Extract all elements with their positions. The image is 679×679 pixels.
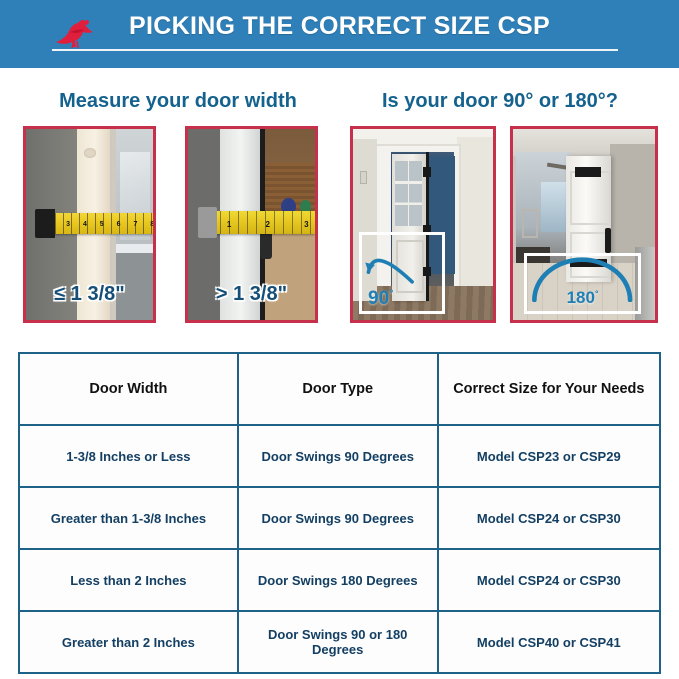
column-header-door-type: Door Type: [238, 353, 438, 425]
cell-door-type: Door Swings 90 or 180 Degrees: [238, 611, 438, 673]
photo-door-swing-90: 90°: [350, 126, 496, 323]
title-underline: [52, 49, 618, 51]
table-row: Greater than 2 Inches Door Swings 90 or …: [19, 611, 660, 673]
cell-door-type: Door Swings 90 Degrees: [238, 487, 438, 549]
photo-door-swing-180: 180°: [510, 126, 658, 323]
table-row: 1-3/8 Inches or Less Door Swings 90 Degr…: [19, 425, 660, 487]
cell-correct-size: Model CSP24 or CSP30: [438, 487, 660, 549]
swing-arc-overlay-180: 180°: [524, 253, 640, 314]
table-header-row: Door Width Door Type Correct Size for Yo…: [19, 353, 660, 425]
photo-1-caption: ≤ 1 3/8": [26, 283, 153, 306]
cell-correct-size: Model CSP40 or CSP41: [438, 611, 660, 673]
cell-correct-size: Model CSP24 or CSP30: [438, 549, 660, 611]
header-banner: PICKING THE CORRECT SIZE CSP: [0, 0, 679, 68]
photo-3-image: 90°: [353, 129, 493, 320]
cell-door-width: Greater than 1-3/8 Inches: [19, 487, 238, 549]
photo-2-caption: > 1 3/8": [188, 283, 315, 306]
cell-door-width: Greater than 2 Inches: [19, 611, 238, 673]
tape-measure-icon: 1 2 3 4: [202, 211, 315, 234]
section-heading-measure: Measure your door width: [33, 90, 323, 113]
column-header-correct-size: Correct Size for Your Needs: [438, 353, 660, 425]
cell-door-type: Door Swings 180 Degrees: [238, 549, 438, 611]
cell-door-width: Less than 2 Inches: [19, 549, 238, 611]
table-row: Less than 2 Inches Door Swings 180 Degre…: [19, 549, 660, 611]
photo-door-jamb-narrow: 3 4 5 6 7 8 9 ≤ 1 3/8": [23, 126, 156, 323]
photo-door-jamb-wide: 1 2 3 4 > 1 3/8": [185, 126, 318, 323]
section-heading-angle: Is your door 90° or 180°?: [350, 90, 650, 113]
size-selection-table: Door Width Door Type Correct Size for Yo…: [18, 352, 661, 674]
page-title: PICKING THE CORRECT SIZE CSP: [0, 12, 679, 41]
tape-measure-icon: 3 4 5 6 7 8 9: [39, 213, 153, 234]
swing-angle-label-90: 90°: [368, 288, 393, 310]
swing-arc-overlay-90: 90°: [359, 232, 446, 314]
column-header-door-width: Door Width: [19, 353, 238, 425]
photo-4-image: 180°: [513, 129, 655, 320]
cell-door-width: 1-3/8 Inches or Less: [19, 425, 238, 487]
table-row: Greater than 1-3/8 Inches Door Swings 90…: [19, 487, 660, 549]
cell-correct-size: Model CSP23 or CSP29: [438, 425, 660, 487]
swing-angle-label-180: 180°: [527, 288, 637, 308]
cell-door-type: Door Swings 90 Degrees: [238, 425, 438, 487]
